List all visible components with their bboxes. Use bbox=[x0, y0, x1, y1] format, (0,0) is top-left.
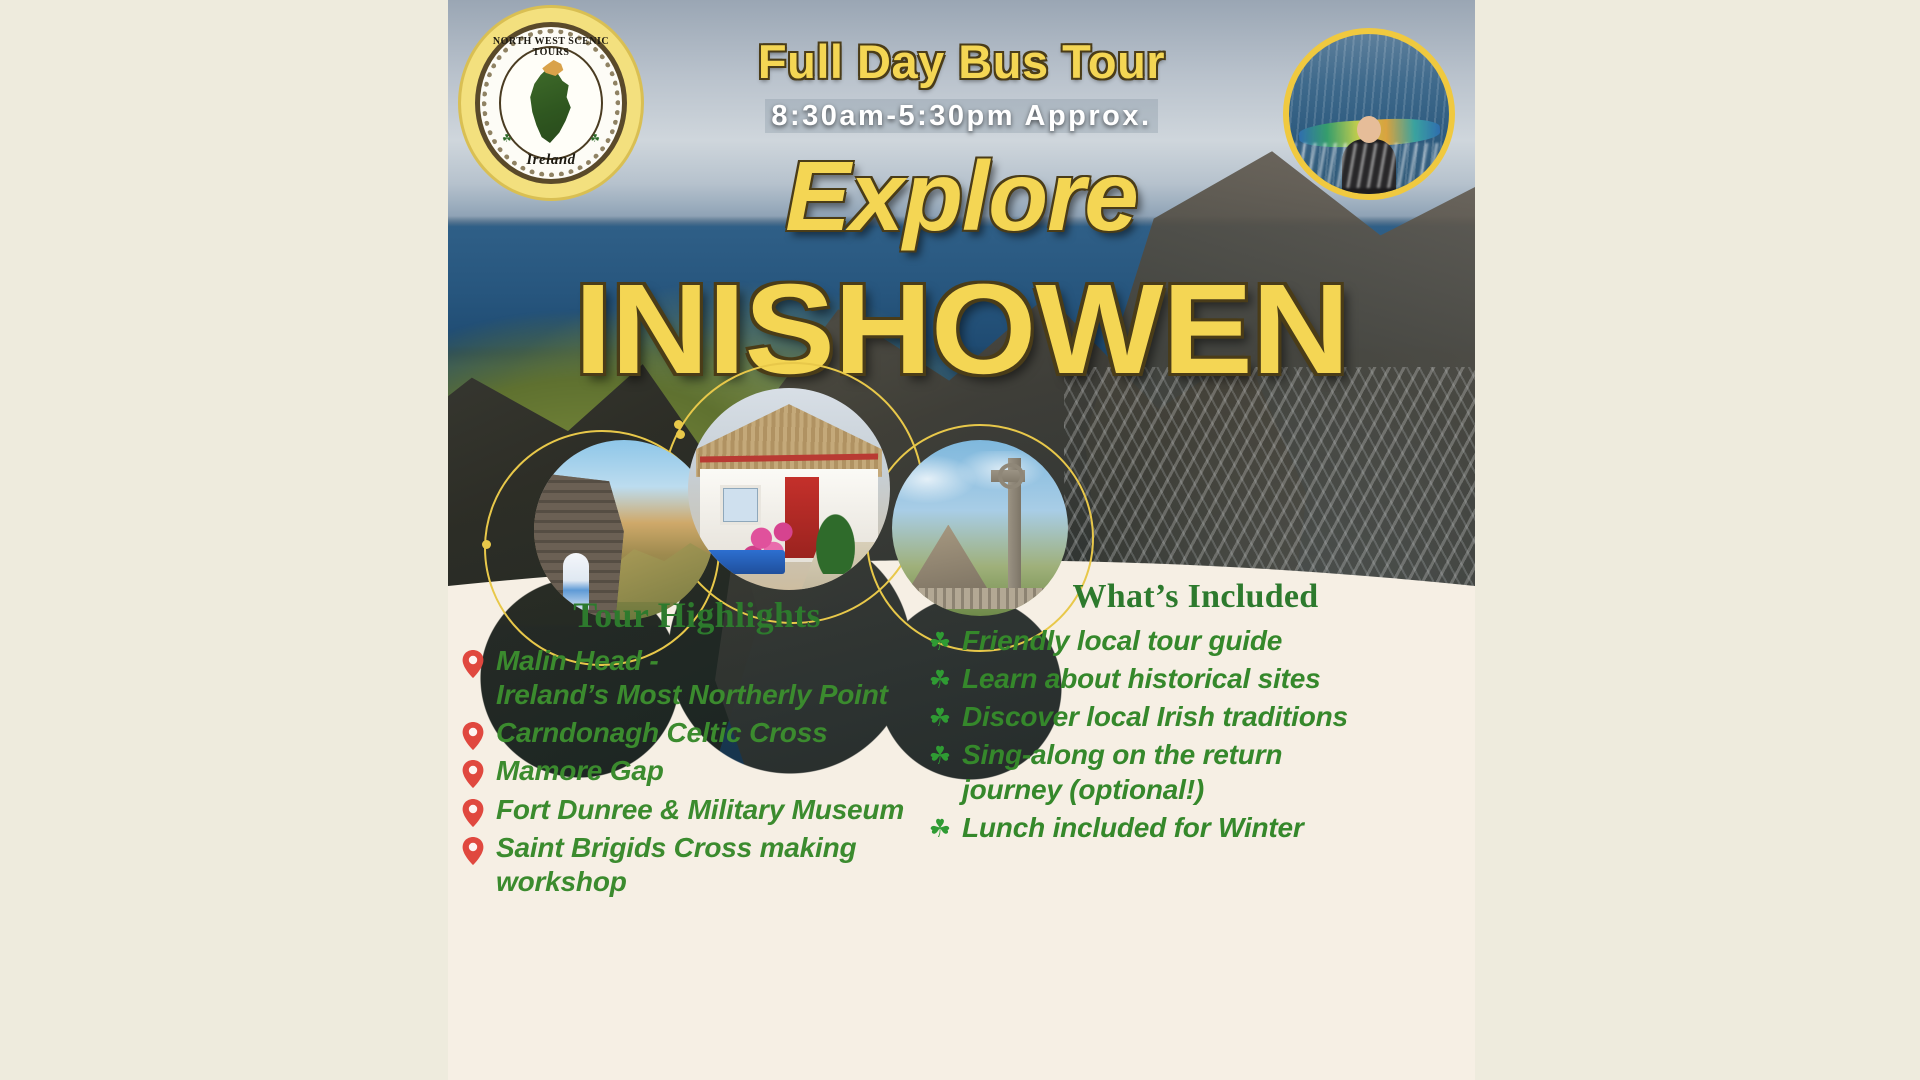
celtic-cross-clouds bbox=[892, 451, 1068, 521]
map-pin-icon bbox=[462, 644, 486, 678]
shamrock-icon: ☘ bbox=[928, 662, 952, 693]
shamrock-icon: ☘ bbox=[928, 700, 952, 731]
list-item-label: Saint Brigids Cross making workshop bbox=[496, 831, 856, 899]
tour-highlights-title: Tour Highlights bbox=[462, 594, 932, 636]
list-item: ☘ Lunch included for Winter bbox=[928, 811, 1463, 845]
map-pin-icon bbox=[462, 754, 486, 788]
poster-time: 8:30am-5:30pm Approx. bbox=[448, 100, 1475, 133]
list-item: Mamore Gap bbox=[462, 754, 932, 788]
poster-time-text: 8:30am-5:30pm Approx. bbox=[765, 99, 1157, 133]
list-item-label: Learn about historical sites bbox=[962, 662, 1321, 696]
celtic-cross-halo-ring bbox=[998, 463, 1024, 489]
list-item: ☘ Learn about historical sites bbox=[928, 662, 1463, 696]
list-item-label: Malin Head - Ireland’s Most Northerly Po… bbox=[496, 644, 888, 712]
whats-included-section: What’s Included ☘ Friendly local tour gu… bbox=[928, 578, 1463, 849]
list-item: Saint Brigids Cross making workshop bbox=[462, 831, 932, 899]
screenshot-viewport: NORTH WEST SCENIC TOURS Ireland ☘ ☘ Full… bbox=[0, 0, 1920, 1080]
shamrock-icon: ☘ bbox=[928, 811, 952, 842]
shamrock-icon: ☘ bbox=[928, 624, 952, 655]
list-item: Fort Dunree & Military Museum bbox=[462, 793, 932, 827]
cottage-shrub bbox=[813, 509, 857, 574]
list-item-label: Sing-along on the return journey (option… bbox=[962, 738, 1282, 806]
list-item-label: Fort Dunree & Military Museum bbox=[496, 793, 904, 827]
whats-included-list: ☘ Friendly local tour guide ☘ Learn abou… bbox=[928, 624, 1463, 845]
map-pin-icon bbox=[462, 716, 486, 750]
cottage-blue-bench bbox=[700, 550, 785, 574]
tour-poster: NORTH WEST SCENIC TOURS Ireland ☘ ☘ Full… bbox=[448, 0, 1475, 1080]
whats-included-title: What’s Included bbox=[928, 578, 1463, 616]
list-item-label: Friendly local tour guide bbox=[962, 624, 1282, 658]
gold-ring-dot-left-top bbox=[676, 430, 685, 439]
list-item-label: Lunch included for Winter bbox=[962, 811, 1304, 845]
list-item-label: Mamore Gap bbox=[496, 754, 664, 788]
marian-grotto-photo bbox=[534, 440, 714, 620]
poster-destination: INISHOWEN bbox=[448, 256, 1475, 403]
tour-highlights-list: Malin Head - Ireland’s Most Northerly Po… bbox=[462, 644, 932, 899]
list-item-label: Discover local Irish traditions bbox=[962, 700, 1348, 734]
list-item: ☘ Sing-along on the return journey (opti… bbox=[928, 738, 1463, 806]
gold-ring-dot-center bbox=[674, 420, 683, 429]
poster-kicker: Full Day Bus Tour bbox=[448, 34, 1475, 89]
thatched-cottage-photo bbox=[688, 388, 890, 590]
list-item: ☘ Discover local Irish traditions bbox=[928, 700, 1463, 734]
map-pin-icon bbox=[462, 793, 486, 827]
poster-script-word: Explore bbox=[448, 140, 1475, 253]
shamrock-icon: ☘ bbox=[928, 738, 952, 769]
list-item-label: Carndonagh Celtic Cross bbox=[496, 716, 827, 750]
tour-highlights-section: Tour Highlights Malin Head - Ireland’s M… bbox=[462, 594, 932, 903]
gold-ring-dot-left bbox=[482, 540, 491, 549]
map-pin-icon bbox=[462, 831, 486, 865]
list-item: Carndonagh Celtic Cross bbox=[462, 716, 932, 750]
list-item: Malin Head - Ireland’s Most Northerly Po… bbox=[462, 644, 932, 712]
list-item: ☘ Friendly local tour guide bbox=[928, 624, 1463, 658]
